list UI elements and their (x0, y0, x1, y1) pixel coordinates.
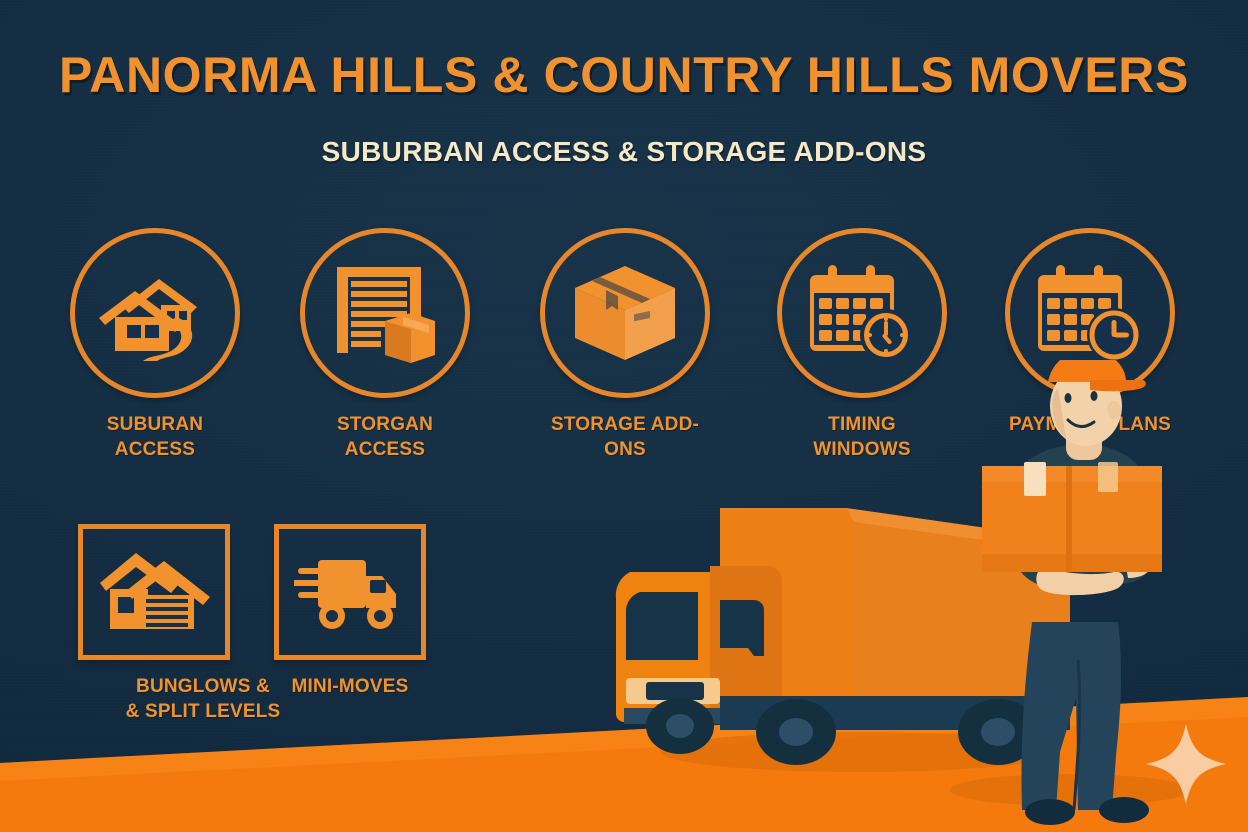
eye-right (1091, 391, 1098, 401)
service-badge-label: STORGAN ACCESS (300, 412, 470, 462)
cap-brim (1090, 380, 1146, 391)
service-badge-suburban-access[interactable]: SUBURAN ACCESS (70, 228, 240, 462)
badge-ring (70, 228, 240, 398)
shoe-left (1025, 799, 1075, 825)
page-title: PANORMA HILLS & COUNTRY HILLS MOVERS (0, 46, 1248, 104)
calendar-clock-outline-icon (1038, 263, 1142, 363)
bungalow-garage-icon (98, 547, 210, 637)
neighborhood-houses-road-icon (99, 263, 211, 363)
cap-crown (1048, 360, 1126, 382)
poster-canvas: PANORMA HILLS & COUNTRY HILLS MOVERS SUB… (0, 0, 1248, 832)
badge-frame (274, 524, 426, 660)
service-badge-label: SUBURAN ACCESS (70, 412, 240, 462)
storage-unit-door-icon (333, 263, 437, 363)
moving-scene-illustration (600, 360, 1248, 832)
fast-delivery-truck-icon (294, 550, 406, 634)
page-subtitle: SUBURBAN ACCESS & STORAGE ADD-ONS (0, 136, 1248, 168)
eye-left (1065, 393, 1072, 403)
cardboard-box-icon (570, 262, 680, 364)
carried-box (982, 462, 1162, 572)
calendar-clock-icon (810, 263, 914, 363)
mover-shadow (950, 774, 1190, 806)
badge-ring (300, 228, 470, 398)
badge-frame (78, 524, 230, 660)
shoe-right (1099, 797, 1149, 823)
service-badge-storage-access[interactable]: STORGAN ACCESS (300, 228, 470, 462)
